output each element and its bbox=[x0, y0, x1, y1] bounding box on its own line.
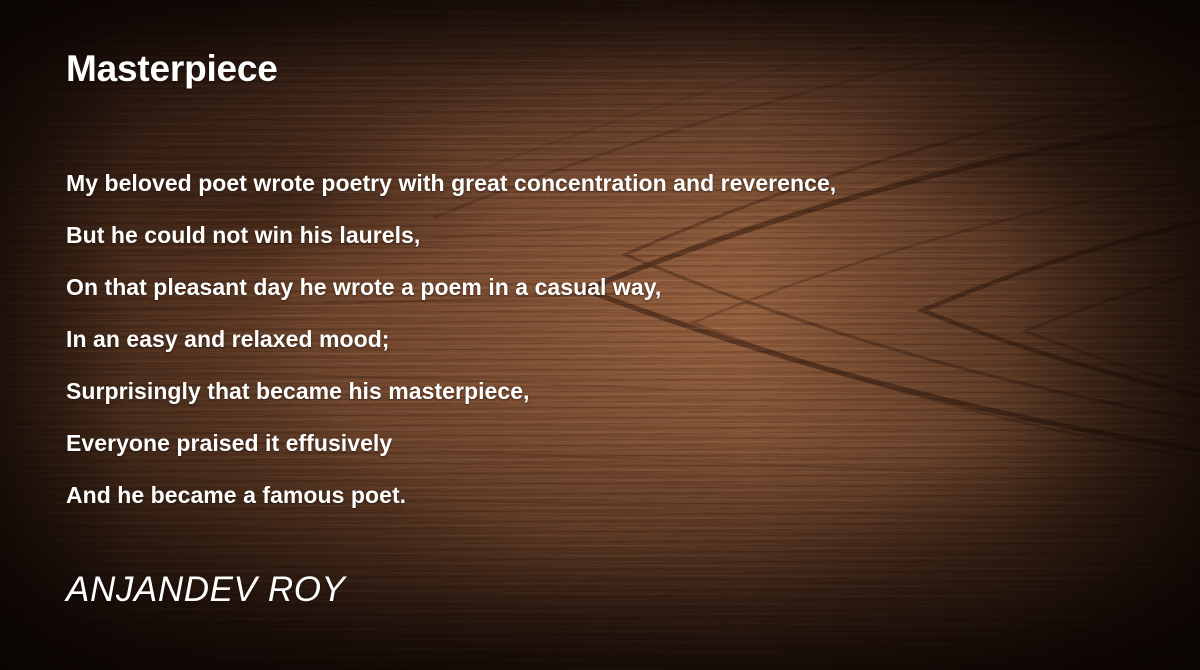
poem-image-card: Masterpiece My beloved poet wrote poetry… bbox=[0, 0, 1200, 670]
poem-line: In an easy and relaxed mood; bbox=[66, 313, 836, 365]
poem-author-signature: ANJANDEV ROY bbox=[66, 570, 345, 610]
poem-body: My beloved poet wrote poetry with great … bbox=[66, 157, 836, 521]
poem-line: My beloved poet wrote poetry with great … bbox=[66, 157, 836, 209]
poem-line: On that pleasant day he wrote a poem in … bbox=[66, 261, 836, 313]
poem-title: Masterpiece bbox=[66, 48, 278, 91]
poem-line: Surprisingly that became his masterpiece… bbox=[66, 365, 836, 417]
poem-line: And he became a famous poet. bbox=[66, 469, 836, 521]
poem-line: But he could not win his laurels, bbox=[66, 209, 836, 261]
poem-line: Everyone praised it effusively bbox=[66, 417, 836, 469]
poem-content: Masterpiece My beloved poet wrote poetry… bbox=[0, 0, 1200, 670]
